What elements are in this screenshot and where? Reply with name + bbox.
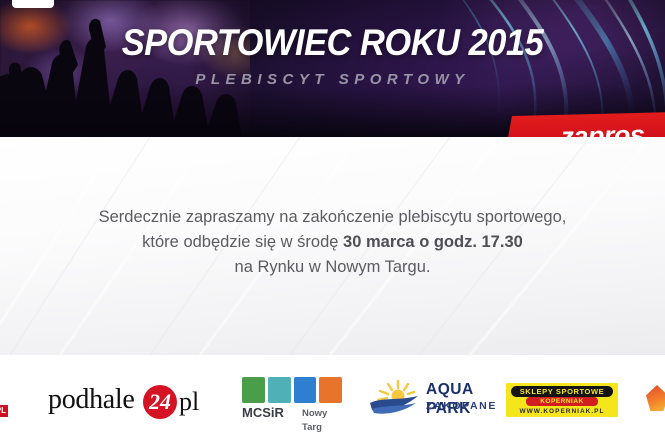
partial-right-mark-icon [646, 385, 665, 411]
koperniak-website: WWW.KOPERNIAK.PL [511, 407, 613, 416]
koperniak-name: KOPERNIAK [526, 397, 598, 406]
sponsor-logo-koperniak[interactable]: SKLEPY SPORTOWE KOPERNIAK WWW.KOPERNIAK.… [506, 383, 618, 417]
invitation-line-2-prefix: które odbędzie się w środę [142, 233, 343, 251]
sponsor-logo-podhale24[interactable]: podhale 24 pl [48, 383, 208, 421]
sponsor-logo-partial-left[interactable]: e .PL [0, 373, 26, 421]
invitation-line-2: które odbędzie się w środę 30 marca o go… [0, 230, 665, 255]
podhale-wordmark: podhale [48, 383, 135, 417]
content-area: Serdecznie zapraszamy na zakończenie ple… [0, 137, 665, 355]
mcsir-subtitle: Nowy Targ [302, 407, 344, 435]
event-title: SPORTOWIEC ROKU 2015 [23, 24, 641, 61]
invitation-line-1: Serdecznie zapraszamy na zakończenie ple… [0, 205, 665, 230]
podhale-number: 24 [143, 385, 177, 419]
podhale-suffix: pl [179, 385, 199, 419]
top-left-tab [12, 0, 54, 8]
invitation-graphic: SPORTOWIEC ROKU 2015 PLEBISCYT SPORTOWY … [0, 0, 665, 443]
aquapark-sun-wave-icon [368, 379, 422, 415]
event-datetime: 30 marca o godz. 17.30 [343, 233, 523, 251]
hero-banner: SPORTOWIEC ROKU 2015 PLEBISCYT SPORTOWY … [0, 0, 665, 137]
event-subtitle: PLEBISCYT SPORTOWY [0, 72, 665, 87]
invitation-text: Serdecznie zapraszamy na zakończenie ple… [0, 205, 665, 280]
ribbon-label: zapros [560, 117, 665, 137]
partial-logo-letter: e [0, 373, 26, 403]
aquapark-city: ZAKOPANE [426, 399, 497, 413]
partial-logo-bar: .PL [0, 405, 8, 417]
mcsir-name: MCSiR [242, 405, 284, 421]
sponsor-logo-partial-right[interactable] [646, 385, 665, 419]
invitation-line-3: na Rynku w Nowym Targu. [0, 255, 665, 280]
sponsor-logo-mcsir[interactable]: MCSiR Nowy Targ [240, 377, 344, 423]
mcsir-squares-icon [242, 377, 342, 403]
koperniak-tagline: SKLEPY SPORTOWE [511, 386, 613, 397]
sponsor-logo-aquapark[interactable]: AQUA PARK ZAKOPANE [368, 379, 508, 421]
sponsor-logo-strip: e .PL podhale 24 pl MCSiR Nowy Targ [0, 355, 665, 443]
